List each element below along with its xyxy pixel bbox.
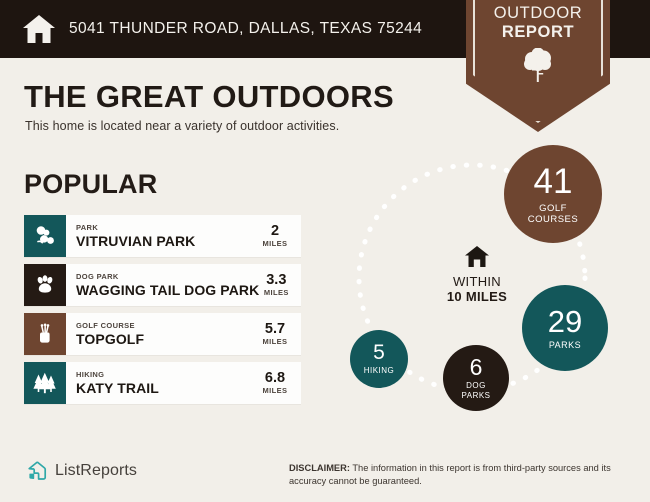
header-address: 5041 THUNDER ROAD, DALLAS, TEXAS 75244 xyxy=(69,20,422,38)
poi-text: HIKING KATY TRAIL xyxy=(66,362,258,404)
tree-icon xyxy=(523,48,553,82)
poi-category: HIKING xyxy=(76,370,258,380)
disclaimer-label: DISCLAIMER: xyxy=(289,463,350,473)
bubble-count: 29 xyxy=(548,306,582,337)
bubble-label-line2: COURSES xyxy=(528,214,578,225)
poi-distance-unit: MILES xyxy=(264,288,289,298)
poi-distance-value: 3.3 xyxy=(266,273,286,288)
poi-distance-unit: MILES xyxy=(263,386,288,396)
poi-distance-value: 5.7 xyxy=(265,322,285,337)
poi-text: GOLF COURSE TOPGOLF xyxy=(66,313,258,355)
list-item[interactable]: HIKING KATY TRAIL 6.8 MILES xyxy=(24,362,301,404)
popular-heading: POPULAR xyxy=(24,169,157,200)
list-item[interactable]: PARK VITRUVIAN PARK 2 MILES xyxy=(24,215,301,257)
list-item[interactable]: GOLF COURSE TOPGOLF 5.7 MILES xyxy=(24,313,301,355)
poi-icon-tile xyxy=(24,362,66,404)
page-subtitle: This home is located near a variety of o… xyxy=(25,119,339,133)
poi-distance-value: 6.8 xyxy=(265,371,285,386)
bubble-count: 5 xyxy=(373,342,385,363)
bubble-parks[interactable]: 29 PARKS xyxy=(522,285,608,371)
poi-icon-tile xyxy=(24,264,66,306)
listreports-logo-text: ListReports xyxy=(55,462,137,480)
poi-category: PARK xyxy=(76,223,258,233)
popular-poi-list: PARK VITRUVIAN PARK 2 MILES xyxy=(24,215,301,411)
bubble-label-line1: HIKING xyxy=(364,365,395,376)
home-icon xyxy=(22,14,56,44)
poi-category: DOG PARK xyxy=(76,272,259,282)
badge-text: OUTDOOR REPORT xyxy=(466,4,610,42)
page-title: THE GREAT OUTDOORS xyxy=(24,79,394,115)
house-outline-icon xyxy=(26,460,48,482)
poi-distance: 2 MILES xyxy=(258,215,301,257)
bubble-hiking[interactable]: 5 HIKING xyxy=(350,330,408,388)
diagram-center-label: WITHIN 10 MILES xyxy=(422,245,532,304)
badge-line1: OUTDOOR xyxy=(466,4,610,23)
poi-distance: 5.7 MILES xyxy=(258,313,301,355)
badge-line2: REPORT xyxy=(466,23,610,42)
bubble-golf-courses[interactable]: 41 GOLF COURSES xyxy=(504,145,602,243)
bubble-count: 6 xyxy=(470,356,483,379)
bubble-label-line1: DOG xyxy=(466,381,486,391)
center-line2: 10 MILES xyxy=(422,289,532,304)
listreports-logo[interactable]: ListReports xyxy=(26,460,137,482)
poi-icon-tile xyxy=(24,215,66,257)
paw-print-icon xyxy=(33,273,57,297)
poi-name: TOPGOLF xyxy=(76,331,258,347)
bubble-count: 41 xyxy=(534,164,573,199)
bubble-label-line1: GOLF xyxy=(539,203,567,214)
outdoor-report-infographic: 5041 THUNDER ROAD, DALLAS, TEXAS 75244 O… xyxy=(0,0,650,502)
disclaimer: DISCLAIMER: The information in this repo… xyxy=(289,462,637,487)
outdoor-report-badge: OUTDOOR REPORT xyxy=(466,0,610,132)
park-tree-icon xyxy=(33,224,57,248)
poi-text: DOG PARK WAGGING TAIL DOG PARK xyxy=(66,264,259,306)
poi-distance-unit: MILES xyxy=(263,239,288,249)
home-icon xyxy=(464,245,490,268)
poi-name: WAGGING TAIL DOG PARK xyxy=(76,282,259,298)
golf-bag-icon xyxy=(33,322,57,346)
bubble-dog-parks[interactable]: 6 DOG PARKS xyxy=(443,345,509,411)
poi-distance-value: 2 xyxy=(271,224,279,239)
poi-distance: 6.8 MILES xyxy=(258,362,301,404)
bubble-label-line2: PARKS xyxy=(461,391,490,401)
poi-name: KATY TRAIL xyxy=(76,380,258,396)
bubble-label-line1: PARKS xyxy=(549,340,581,351)
poi-text: PARK VITRUVIAN PARK xyxy=(66,215,258,257)
poi-distance-unit: MILES xyxy=(263,337,288,347)
poi-name: VITRUVIAN PARK xyxy=(76,233,258,249)
poi-icon-tile xyxy=(24,313,66,355)
poi-category: GOLF COURSE xyxy=(76,321,258,331)
pine-trees-icon xyxy=(32,371,58,395)
within-10-miles-diagram: 41 GOLF COURSES 29 PARKS 6 DOG PARKS 5 H… xyxy=(330,140,630,440)
list-item[interactable]: DOG PARK WAGGING TAIL DOG PARK 3.3 MILES xyxy=(24,264,301,306)
center-line1: WITHIN xyxy=(422,274,532,289)
poi-distance: 3.3 MILES xyxy=(259,264,302,306)
